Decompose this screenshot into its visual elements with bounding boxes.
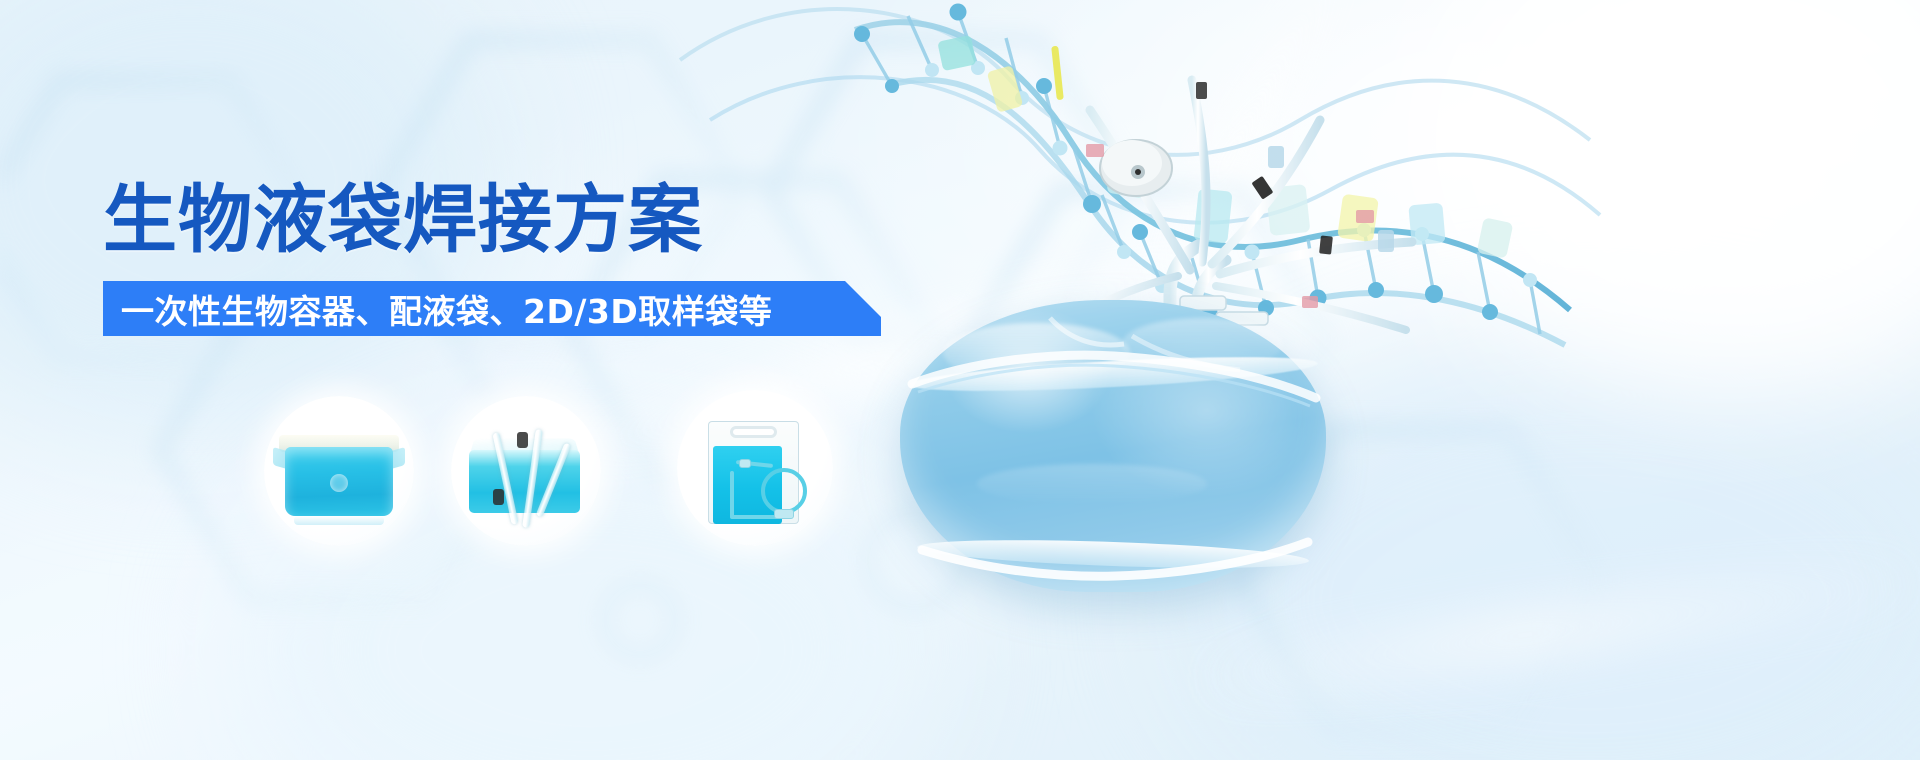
tube-connector	[774, 509, 794, 519]
3d-cube-bag-with-tubes	[451, 396, 601, 546]
coiled-tube	[761, 468, 807, 514]
product-thumbnail-1[interactable]	[264, 396, 414, 546]
subtitle-ribbon: 一次性生物容器、配液袋、2D/3D取样袋等	[103, 281, 881, 336]
subtitle-text: 一次性生物容器、配液袋、2D/3D取样袋等	[103, 285, 772, 333]
bag-tube	[730, 471, 734, 518]
flat-pillow-liquid-bag	[264, 396, 414, 546]
3d-bioprocess-bag	[900, 300, 1326, 592]
bag-port	[330, 474, 348, 492]
product-banner: 生物液袋焊接方案 一次性生物容器、配液袋、2D/3D取样袋等	[0, 0, 1920, 760]
product-thumbnail-2[interactable]	[451, 396, 601, 546]
sampling-bag-with-coil-tube	[677, 390, 833, 546]
tube-connector	[739, 459, 751, 468]
bag-detail-svg	[900, 300, 1326, 592]
product-thumbnail-3[interactable]	[677, 390, 833, 546]
page-title: 生物液袋焊接方案	[103, 178, 703, 262]
bag-bottom-seam	[294, 516, 384, 525]
tube-clamp	[517, 432, 528, 448]
bag-handle	[730, 426, 777, 438]
tube-clamp	[493, 489, 504, 505]
